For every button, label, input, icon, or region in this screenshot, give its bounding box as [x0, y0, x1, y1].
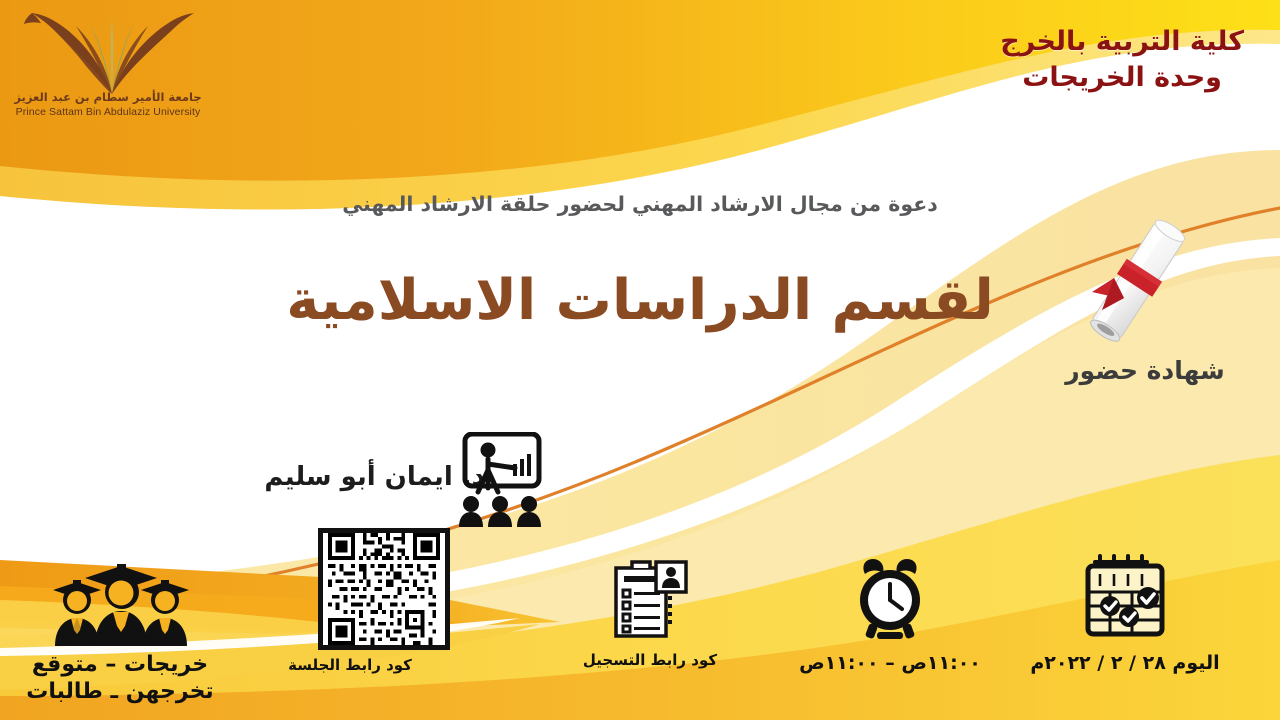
session-link-item[interactable]: كود رابط الجلسة: [250, 528, 450, 674]
speaker-name: د. ايمان أبو سليم: [264, 462, 485, 492]
graduates-group-icon: [33, 556, 208, 646]
faculty-name: كلية التربية بالخرج: [1000, 24, 1244, 60]
faculty-header: كلية التربية بالخرج وحدة الخريجات: [1000, 24, 1244, 95]
alarm-clock-icon: [855, 556, 925, 644]
audience-item: خريجات – متوقع تخرجهن ـ طالبات: [0, 556, 240, 706]
certificate-label: شهادة حضور: [1030, 356, 1260, 385]
certificate-block: شهادة حضور: [1030, 218, 1260, 398]
time-item: ١١:٠٠ص – ١١:٠٠ص: [780, 556, 1000, 675]
date-item: اليوم ٢٨ / ٢ / ٢٠٢٢م: [1010, 552, 1240, 675]
unit-name: وحدة الخريجات: [1000, 60, 1244, 96]
event-poster: جامعة الأمير سطام بن عبد العزيز Prince S…: [0, 0, 1280, 720]
audience-caption: خريجات – متوقع تخرجهن ـ طالبات: [5, 652, 235, 706]
date-caption: اليوم ٢٨ / ٢ / ٢٠٢٢م: [1010, 652, 1240, 675]
time-caption: ١١:٠٠ص – ١١:٠٠ص: [780, 652, 1000, 675]
page-title: لقسم الدراسات الاسلامية: [200, 270, 1080, 333]
logo-name-arabic: جامعة الأمير سطام بن عبد العزيز: [8, 90, 208, 104]
calendar-check-icon: [1080, 552, 1170, 644]
university-logo: جامعة الأمير سطام بن عبد العزيز Prince S…: [8, 2, 218, 130]
registration-link-item: كود رابط التسجيل: [550, 556, 750, 669]
logo-name-english: Prince Sattam Bin Abdulaziz University: [8, 106, 208, 118]
presenter-lecture-icon: [455, 432, 545, 527]
qr-code-icon[interactable]: [318, 528, 450, 650]
registration-link-caption: كود رابط التسجيل: [550, 651, 750, 669]
session-link-caption: كود رابط الجلسة: [250, 656, 450, 674]
open-book-palm-logo-icon: [16, 2, 206, 98]
invitation-text: دعوة من مجال الارشاد المهني لحضور حلقة ا…: [260, 192, 1020, 218]
clipboard-registration-icon: [610, 556, 690, 641]
rolled-diploma-icon: [1056, 218, 1236, 358]
